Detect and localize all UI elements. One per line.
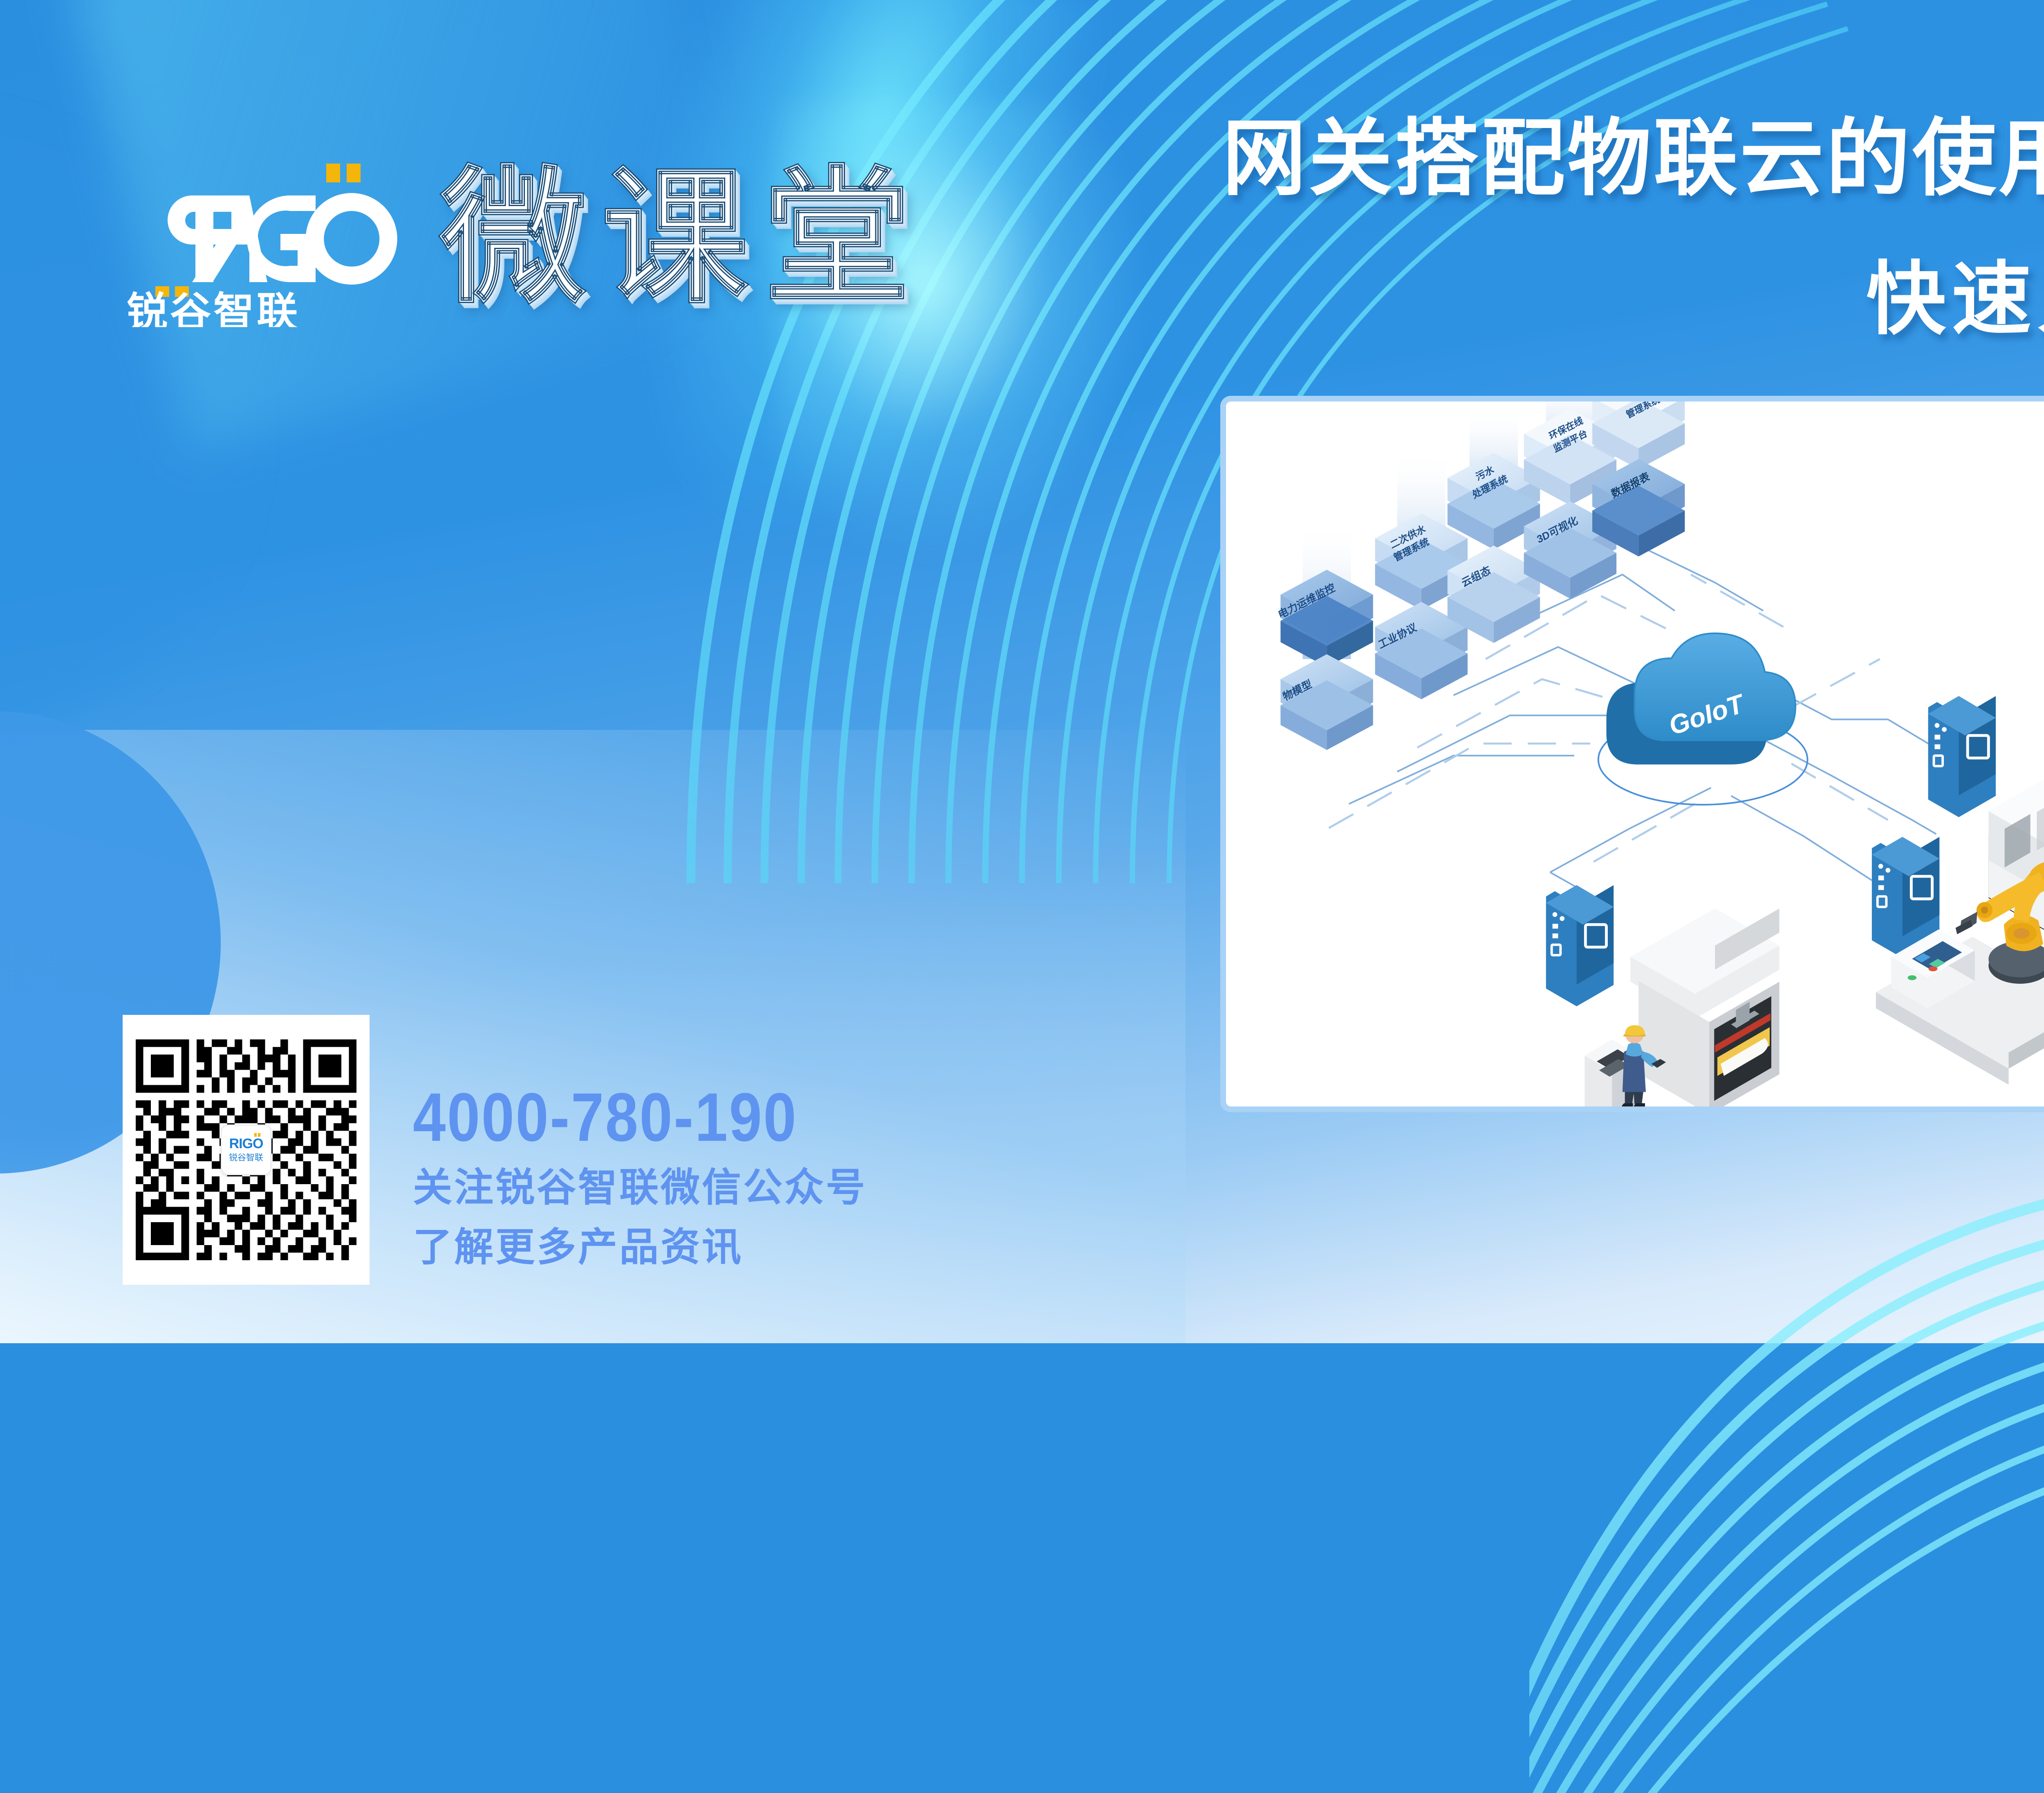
logo-cn-text: 锐谷智联 xyxy=(127,289,300,327)
cloud-node: GoIoT xyxy=(1598,633,1808,805)
cta-line-2: 了解更多产品资讯 xyxy=(413,1228,743,1267)
gateway-device xyxy=(1928,696,1996,817)
platform-block-group: 能效 管理系统 数据报表 xyxy=(1592,402,1685,557)
brand-logo: 锐谷智联 xyxy=(123,164,417,327)
press-machine xyxy=(1585,909,1779,1106)
platform-block: 电力运维监控 xyxy=(1276,570,1373,667)
gateway-device xyxy=(1546,885,1614,1006)
logo-latin-text xyxy=(168,193,397,285)
page-title: 网关搭配物联云的使用案例 xyxy=(1222,117,2044,200)
page-subtitle: 快速入门 xyxy=(1866,260,2044,339)
iot-architecture-diagram: 电力运维监控 物模型 二次供水 管理系统 xyxy=(1226,402,2044,1106)
series-title: 微课堂 xyxy=(439,166,925,313)
platform-block-group: 电力运维监控 物模型 xyxy=(1276,522,1373,750)
qr-matrix: RIGO 锐谷智联 xyxy=(136,1039,356,1260)
qr-logo-accent-icon xyxy=(254,1133,260,1137)
wechat-qr-code[interactable]: RIGO 锐谷智联 xyxy=(123,1015,370,1285)
support-phone-number: 4000-780-190 xyxy=(413,1083,798,1151)
qr-logo-cn: 锐谷智联 xyxy=(229,1153,263,1163)
platform-block: 物模型 xyxy=(1280,654,1373,750)
logo-umlaut-icon xyxy=(326,164,361,182)
qr-logo-latin: RIGO xyxy=(229,1137,263,1151)
cta-line-1: 关注锐谷智联微信公众号 xyxy=(413,1168,867,1207)
diagram-panel: 电力运维监控 物模型 二次供水 管理系统 xyxy=(1220,396,2044,1112)
qr-embedded-logo: RIGO 锐谷智联 xyxy=(221,1124,271,1175)
